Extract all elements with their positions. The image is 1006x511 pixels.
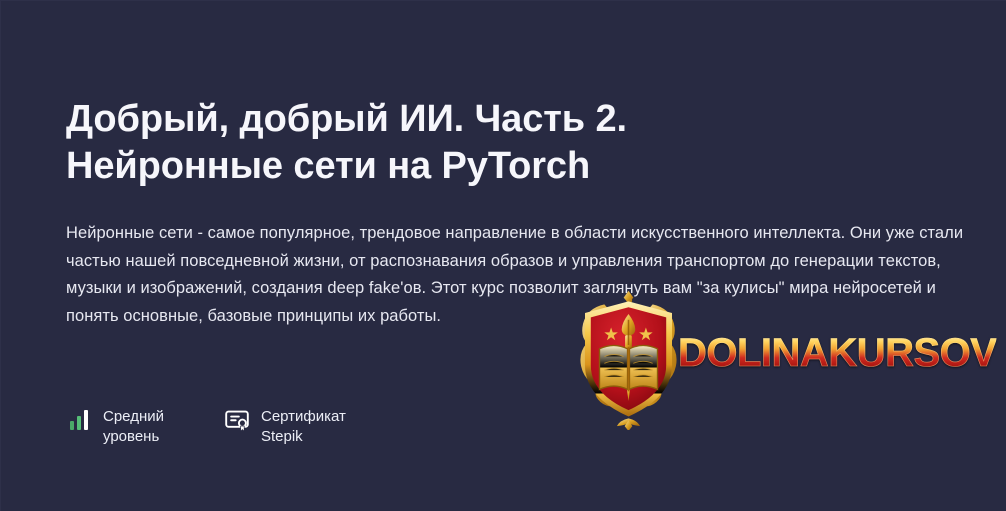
meta-item-certificate: Сертификат Stepik [224,405,346,446]
level-bar-2 [77,416,82,430]
level-bars [70,410,89,430]
meta-item-certificate-label: Сертификат Stepik [261,405,346,446]
level-bar-1 [70,421,75,430]
course-hero-banner: Добрый, добрый ИИ. Часть 2. Нейронные се… [0,0,1006,511]
course-description: Нейронные сети - самое популярное, тренд… [66,220,972,330]
certificate-icon [224,405,250,435]
page-title: Добрый, добрый ИИ. Часть 2. Нейронные се… [66,96,766,190]
meta-item-level: Средний уровень [66,405,164,446]
level-bar-3 [84,410,89,430]
meta-item-level-label: Средний уровень [103,405,164,446]
bar-chart-level-icon [66,405,92,435]
hero-section: Добрый, добрый ИИ. Часть 2. Нейронные се… [66,96,978,330]
watermark-brand-text: DOLINAKURSOV [678,333,996,373]
course-meta-row: Средний уровень Сертификат Stepik [66,405,346,446]
